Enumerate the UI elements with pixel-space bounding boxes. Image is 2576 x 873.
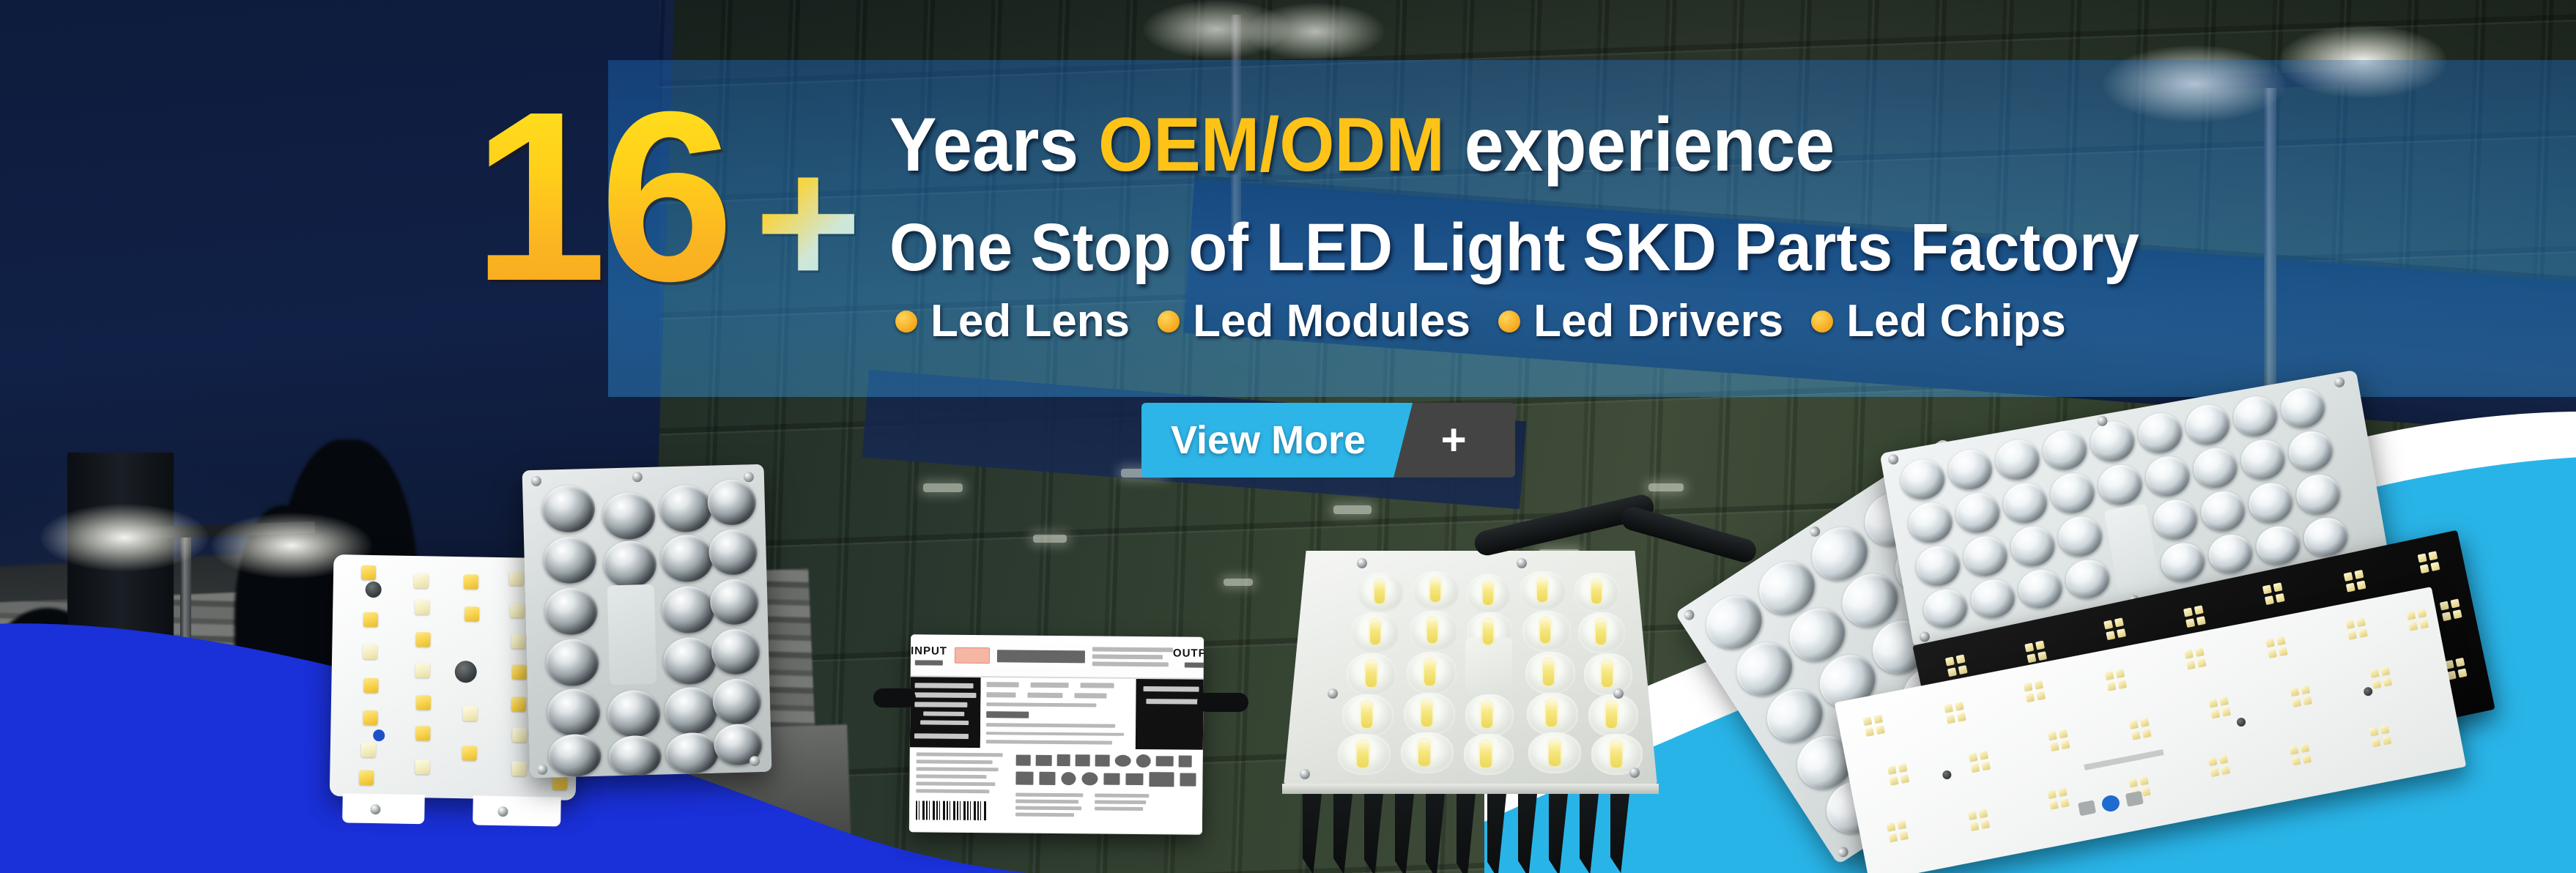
- bullet-label: Led Modules: [1193, 296, 1470, 347]
- headline: Years OEM/ODM experience: [889, 103, 1835, 187]
- view-more-cta[interactable]: View More +: [1141, 403, 1515, 478]
- bullet-label: Led Chips: [1846, 296, 2066, 347]
- bullet-dot-icon: [1811, 311, 1833, 333]
- bullet-label: Led Lens: [930, 296, 1130, 347]
- promo-banner: INPUT OUTPUT: [0, 0, 2576, 873]
- view-more-button[interactable]: View More: [1141, 403, 1413, 478]
- bullet-item-led-lens: Led Lens: [895, 296, 1130, 347]
- headline-part1: Years: [889, 103, 1098, 187]
- view-more-plus-icon[interactable]: +: [1392, 403, 1515, 478]
- bullet-dot-icon: [895, 311, 917, 333]
- bullet-dot-icon: [1498, 311, 1520, 333]
- years-number: 16: [473, 86, 727, 306]
- bullet-dot-icon: [1158, 311, 1180, 333]
- headline-part2: experience: [1445, 103, 1835, 187]
- feature-bullet-list: Led Lens Led Modules Led Drivers Led Chi…: [895, 296, 2066, 347]
- banner-content: 16 + Years OEM/ODM experience One Stop o…: [0, 0, 2576, 873]
- plus-symbol: +: [755, 130, 862, 313]
- bullet-item-led-modules: Led Modules: [1158, 296, 1470, 347]
- bullet-label: Led Drivers: [1533, 296, 1783, 347]
- bullet-item-led-drivers: Led Drivers: [1498, 296, 1783, 347]
- subheadline: One Stop of LED Light SKD Parts Factory: [889, 209, 2139, 286]
- bullet-item-led-chips: Led Chips: [1811, 296, 2066, 347]
- headline-highlight: OEM/ODM: [1098, 103, 1445, 187]
